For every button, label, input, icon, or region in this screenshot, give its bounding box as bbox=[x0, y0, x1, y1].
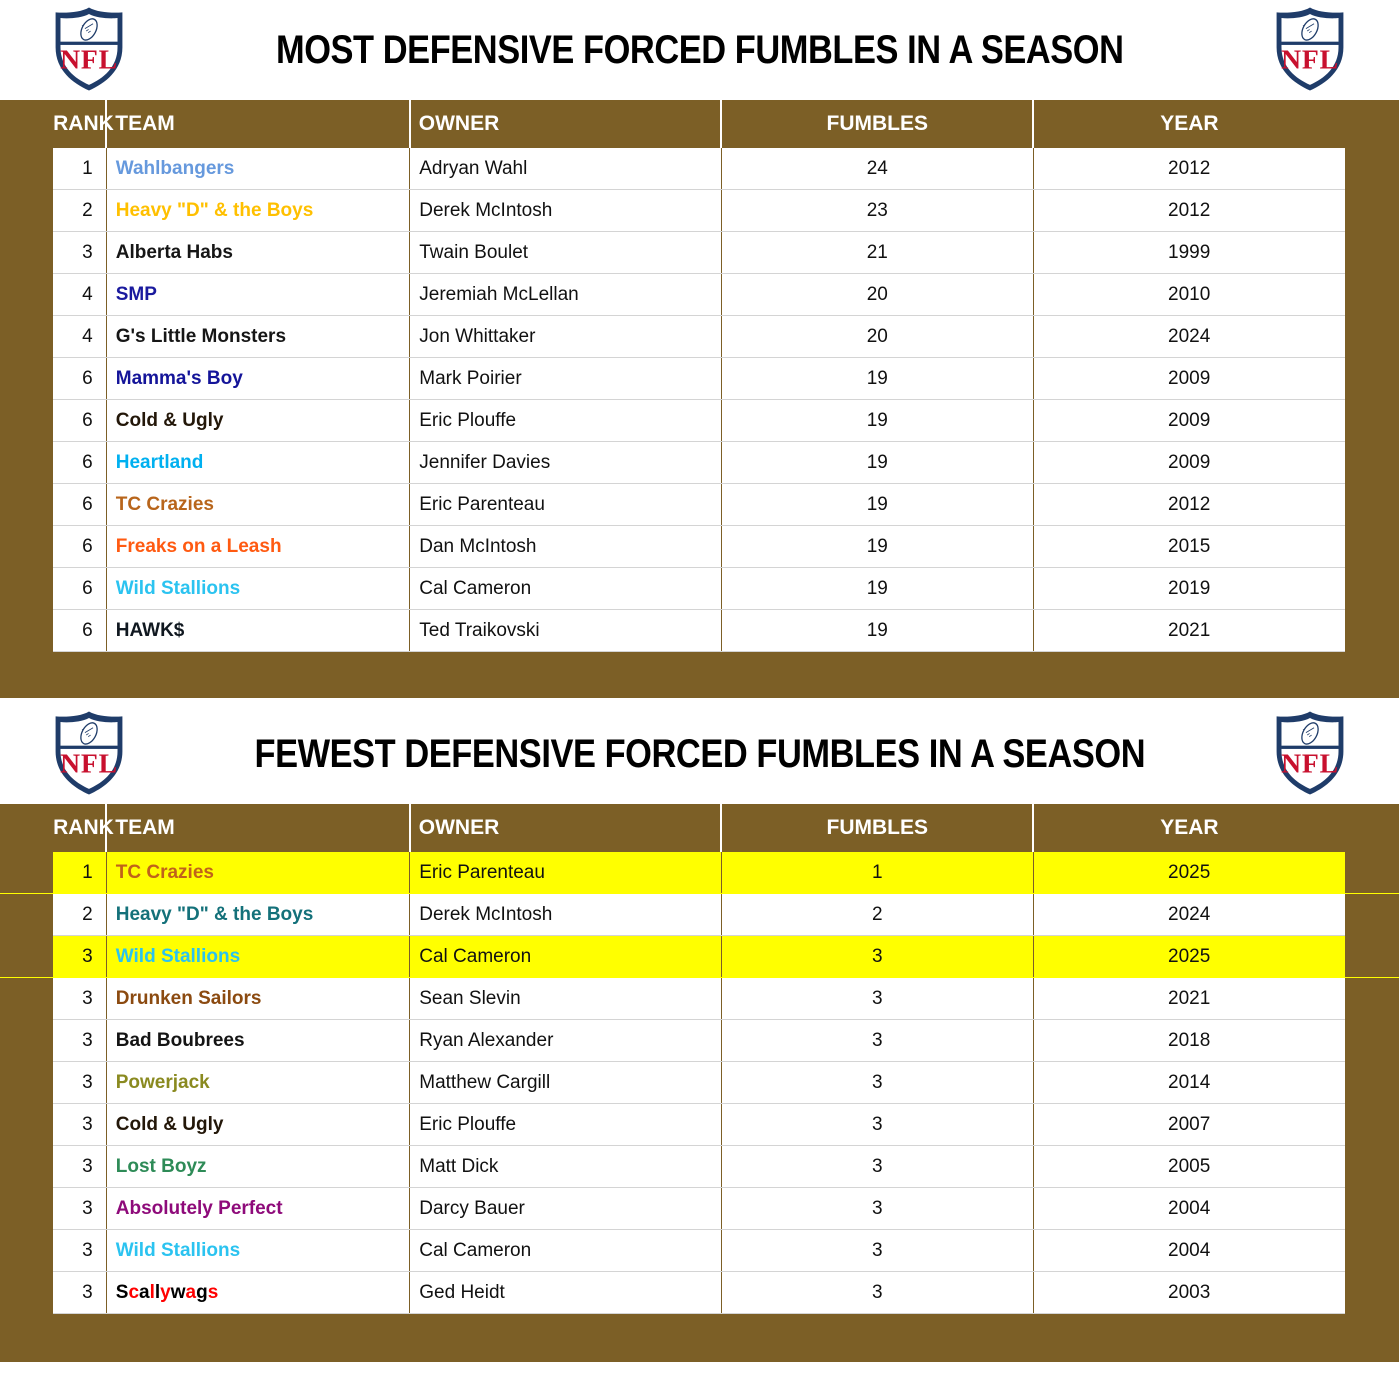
cell-owner: Eric Plouffe bbox=[410, 400, 722, 442]
row-left-spacer bbox=[0, 936, 53, 978]
table-row[interactable]: 3Cold & UglyEric Plouffe32007 bbox=[0, 1104, 1399, 1146]
team-letter: S bbox=[116, 1282, 129, 1303]
row-right-spacer bbox=[1345, 148, 1399, 190]
row-right-spacer bbox=[1345, 894, 1399, 936]
cell-team: Wild Stallions bbox=[106, 568, 410, 610]
cell-fumbles: 20 bbox=[721, 316, 1033, 358]
records-sheet: NFL MOST DEFENSIVE FORCED FUMBLES IN A S… bbox=[0, 0, 1399, 1385]
cell-year: 2012 bbox=[1033, 190, 1345, 232]
team-letter: a bbox=[139, 1282, 150, 1303]
cell-fumbles: 3 bbox=[721, 1188, 1033, 1230]
table-row[interactable]: 1WahlbangersAdryan Wahl242012 bbox=[0, 148, 1399, 190]
cell-year: 1999 bbox=[1033, 232, 1345, 274]
column-header-year[interactable]: YEAR bbox=[1033, 100, 1345, 148]
team-letter: a bbox=[186, 1282, 197, 1303]
row-left-spacer bbox=[0, 1062, 53, 1104]
cell-team: G's Little Monsters bbox=[106, 316, 410, 358]
nfl-logo-right: NFL bbox=[1269, 709, 1351, 797]
cell-year: 2012 bbox=[1033, 484, 1345, 526]
cell-fumbles: 24 bbox=[721, 148, 1033, 190]
cell-owner: Derek McIntosh bbox=[410, 190, 722, 232]
nfl-logo-left: NFL bbox=[48, 709, 130, 797]
cell-fumbles: 3 bbox=[721, 978, 1033, 1020]
cell-team: HAWK$ bbox=[106, 610, 410, 652]
row-right-spacer bbox=[1345, 1104, 1399, 1146]
cell-year: 2018 bbox=[1033, 1020, 1345, 1062]
cell-rank: 3 bbox=[53, 232, 106, 274]
nfl-shield-icon: NFL bbox=[48, 5, 130, 93]
table-row[interactable]: 3Absolutely PerfectDarcy Bauer32004 bbox=[0, 1188, 1399, 1230]
row-right-spacer bbox=[1345, 400, 1399, 442]
table-row[interactable]: 3Lost BoyzMatt Dick32005 bbox=[0, 1146, 1399, 1188]
row-left-spacer bbox=[0, 316, 53, 358]
table-row[interactable]: 3Alberta HabsTwain Boulet211999 bbox=[0, 232, 1399, 274]
cell-team: Bad Boubrees bbox=[106, 1020, 410, 1062]
cell-fumbles: 23 bbox=[721, 190, 1033, 232]
cell-rank: 6 bbox=[53, 358, 106, 400]
cell-year: 2025 bbox=[1033, 852, 1345, 894]
cell-year: 2003 bbox=[1033, 1272, 1345, 1314]
cell-team: TC Crazies bbox=[106, 484, 410, 526]
team-letter: c bbox=[128, 1282, 139, 1303]
cell-owner: Mark Poirier bbox=[410, 358, 722, 400]
cell-fumbles: 3 bbox=[721, 936, 1033, 978]
table-row[interactable]: 1TC CraziesEric Parenteau12025 bbox=[0, 852, 1399, 894]
cell-rank: 6 bbox=[53, 610, 106, 652]
cell-team: SMP bbox=[106, 274, 410, 316]
row-left-spacer bbox=[0, 852, 53, 894]
cell-year: 2021 bbox=[1033, 978, 1345, 1020]
svg-text:NFL: NFL bbox=[1281, 748, 1339, 779]
column-header-year[interactable]: YEAR bbox=[1033, 804, 1345, 852]
cell-rank: 3 bbox=[53, 1188, 106, 1230]
cell-team: Mamma's Boy bbox=[106, 358, 410, 400]
row-left-spacer bbox=[0, 1188, 53, 1230]
cell-rank: 2 bbox=[53, 190, 106, 232]
cell-team: Wild Stallions bbox=[106, 936, 410, 978]
cell-rank: 3 bbox=[53, 978, 106, 1020]
cell-team: Lost Boyz bbox=[106, 1146, 410, 1188]
cell-fumbles: 3 bbox=[721, 1062, 1033, 1104]
cell-owner: Ged Heidt bbox=[410, 1272, 722, 1314]
cell-fumbles: 19 bbox=[721, 526, 1033, 568]
cell-owner: Eric Parenteau bbox=[410, 484, 722, 526]
cell-owner: Dan McIntosh bbox=[410, 526, 722, 568]
cell-fumbles: 19 bbox=[721, 610, 1033, 652]
cell-year: 2019 bbox=[1033, 568, 1345, 610]
row-right-spacer bbox=[1345, 1188, 1399, 1230]
row-left-spacer bbox=[0, 1020, 53, 1062]
cell-year: 2021 bbox=[1033, 610, 1345, 652]
section-most: NFL MOST DEFENSIVE FORCED FUMBLES IN A S… bbox=[0, 0, 1399, 704]
cell-fumbles: 3 bbox=[721, 1272, 1033, 1314]
cell-fumbles: 19 bbox=[721, 484, 1033, 526]
table-row[interactable]: 2Heavy "D" & the BoysDerek McIntosh23201… bbox=[0, 190, 1399, 232]
row-right-spacer bbox=[1345, 978, 1399, 1020]
cell-team: Powerjack bbox=[106, 1062, 410, 1104]
cell-year: 2004 bbox=[1033, 1230, 1345, 1272]
row-right-spacer bbox=[1345, 1146, 1399, 1188]
row-right-spacer bbox=[1345, 484, 1399, 526]
cell-owner: Cal Cameron bbox=[410, 936, 722, 978]
nfl-logo-left: NFL bbox=[48, 5, 130, 93]
cell-rank: 3 bbox=[53, 936, 106, 978]
table-row[interactable]: 6Wild StallionsCal Cameron192019 bbox=[0, 568, 1399, 610]
row-left-spacer bbox=[0, 442, 53, 484]
cell-rank: 3 bbox=[53, 1230, 106, 1272]
row-left-spacer bbox=[0, 894, 53, 936]
team-letter: g bbox=[196, 1282, 208, 1303]
cell-fumbles: 21 bbox=[721, 232, 1033, 274]
table-row[interactable]: 3Bad BoubreesRyan Alexander32018 bbox=[0, 1020, 1399, 1062]
cell-owner: Jennifer Davies bbox=[410, 442, 722, 484]
page-title-fewest: FEWEST DEFENSIVE FORCED FUMBLES IN A SEA… bbox=[254, 732, 1145, 777]
cell-owner: Jon Whittaker bbox=[410, 316, 722, 358]
table-row[interactable]: 4SMPJeremiah McLellan202010 bbox=[0, 274, 1399, 316]
table-row[interactable]: 4G's Little MonstersJon Whittaker202024 bbox=[0, 316, 1399, 358]
row-left-spacer bbox=[0, 610, 53, 652]
cell-fumbles: 19 bbox=[721, 358, 1033, 400]
row-right-spacer bbox=[1345, 1230, 1399, 1272]
cell-rank: 6 bbox=[53, 526, 106, 568]
cell-rank: 2 bbox=[53, 894, 106, 936]
table-row[interactable]: 6TC CraziesEric Parenteau192012 bbox=[0, 484, 1399, 526]
cell-year: 2025 bbox=[1033, 936, 1345, 978]
row-left-spacer bbox=[0, 1272, 53, 1314]
cell-owner: Cal Cameron bbox=[410, 1230, 722, 1272]
header-right-spacer bbox=[1345, 804, 1399, 852]
cell-year: 2015 bbox=[1033, 526, 1345, 568]
cell-fumbles: 2 bbox=[721, 894, 1033, 936]
row-right-spacer bbox=[1345, 936, 1399, 978]
row-left-spacer bbox=[0, 148, 53, 190]
table-wrap-fewest: RANKTEAMOWNERFUMBLESYEAR1TC CraziesEric … bbox=[0, 804, 1399, 1362]
row-left-spacer bbox=[0, 400, 53, 442]
cell-owner: Ted Traikovski bbox=[410, 610, 722, 652]
team-letter: w bbox=[171, 1282, 186, 1303]
row-right-spacer bbox=[1345, 526, 1399, 568]
cell-team: TC Crazies bbox=[106, 852, 410, 894]
cell-owner: Darcy Bauer bbox=[410, 1188, 722, 1230]
cell-rank: 3 bbox=[53, 1062, 106, 1104]
cell-rank: 4 bbox=[53, 274, 106, 316]
nfl-shield-icon: NFL bbox=[1269, 5, 1351, 93]
row-left-spacer bbox=[0, 484, 53, 526]
row-left-spacer bbox=[0, 274, 53, 316]
cell-team: Cold & Ugly bbox=[106, 1104, 410, 1146]
row-left-spacer bbox=[0, 1104, 53, 1146]
table-footer-band bbox=[0, 652, 1399, 698]
cell-owner: Matthew Cargill bbox=[410, 1062, 722, 1104]
column-header-fumbles[interactable]: FUMBLES bbox=[721, 100, 1033, 148]
table-row[interactable]: 6HAWK$Ted Traikovski192021 bbox=[0, 610, 1399, 652]
cell-team: Heavy "D" & the Boys bbox=[106, 190, 410, 232]
cell-team: Drunken Sailors bbox=[106, 978, 410, 1020]
cell-rank: 3 bbox=[53, 1146, 106, 1188]
table-row[interactable]: 6HeartlandJennifer Davies192009 bbox=[0, 442, 1399, 484]
row-left-spacer bbox=[0, 1146, 53, 1188]
cell-year: 2009 bbox=[1033, 400, 1345, 442]
cell-year: 2024 bbox=[1033, 316, 1345, 358]
cell-rank: 6 bbox=[53, 568, 106, 610]
cell-team: Heavy "D" & the Boys bbox=[106, 894, 410, 936]
cell-fumbles: 3 bbox=[721, 1146, 1033, 1188]
row-right-spacer bbox=[1345, 274, 1399, 316]
cell-team: Wahlbangers bbox=[106, 148, 410, 190]
row-left-spacer bbox=[0, 526, 53, 568]
cell-fumbles: 20 bbox=[721, 274, 1033, 316]
column-header-rank[interactable]: RANK bbox=[53, 804, 106, 852]
row-right-spacer bbox=[1345, 1272, 1399, 1314]
table-row[interactable]: 3Wild StallionsCal Cameron32025 bbox=[0, 936, 1399, 978]
cell-year: 2024 bbox=[1033, 894, 1345, 936]
row-left-spacer bbox=[0, 232, 53, 274]
cell-year: 2010 bbox=[1033, 274, 1345, 316]
cell-team: Freaks on a Leash bbox=[106, 526, 410, 568]
sections-root: NFL MOST DEFENSIVE FORCED FUMBLES IN A S… bbox=[0, 0, 1399, 1362]
cell-rank: 6 bbox=[53, 400, 106, 442]
header-left-spacer bbox=[0, 100, 53, 148]
cell-owner: Eric Parenteau bbox=[410, 852, 722, 894]
cell-team: Heartland bbox=[106, 442, 410, 484]
table-row[interactable]: 6Mamma's BoyMark Poirier192009 bbox=[0, 358, 1399, 400]
row-right-spacer bbox=[1345, 568, 1399, 610]
row-left-spacer bbox=[0, 978, 53, 1020]
column-header-owner[interactable]: OWNER bbox=[410, 804, 722, 852]
team-letter: s bbox=[208, 1282, 219, 1303]
cell-rank: 3 bbox=[53, 1272, 106, 1314]
cell-year: 2004 bbox=[1033, 1188, 1345, 1230]
cell-year: 2009 bbox=[1033, 358, 1345, 400]
cell-owner: Cal Cameron bbox=[410, 568, 722, 610]
cell-year: 2012 bbox=[1033, 148, 1345, 190]
table-row[interactable]: 6Freaks on a LeashDan McIntosh192015 bbox=[0, 526, 1399, 568]
cell-owner: Eric Plouffe bbox=[410, 1104, 722, 1146]
row-right-spacer bbox=[1345, 232, 1399, 274]
cell-fumbles: 3 bbox=[721, 1020, 1033, 1062]
row-right-spacer bbox=[1345, 1020, 1399, 1062]
title-band-fewest: NFL FEWEST DEFENSIVE FORCED FUMBLES IN A… bbox=[0, 704, 1399, 804]
cell-owner: Sean Slevin bbox=[410, 978, 722, 1020]
cell-year: 2014 bbox=[1033, 1062, 1345, 1104]
cell-rank: 3 bbox=[53, 1020, 106, 1062]
cell-rank: 3 bbox=[53, 1104, 106, 1146]
title-band-most: NFL MOST DEFENSIVE FORCED FUMBLES IN A S… bbox=[0, 0, 1399, 100]
row-left-spacer bbox=[0, 568, 53, 610]
cell-owner: Adryan Wahl bbox=[410, 148, 722, 190]
table-header-row: RANKTEAMOWNERFUMBLESYEAR bbox=[0, 804, 1399, 852]
svg-text:NFL: NFL bbox=[60, 44, 118, 75]
section-fewest: NFL FEWEST DEFENSIVE FORCED FUMBLES IN A… bbox=[0, 704, 1399, 1362]
cell-fumbles: 19 bbox=[721, 568, 1033, 610]
table-wrap-most: RANKTEAMOWNERFUMBLESYEAR1WahlbangersAdry… bbox=[0, 100, 1399, 698]
row-right-spacer bbox=[1345, 316, 1399, 358]
cell-team: Cold & Ugly bbox=[106, 400, 410, 442]
cell-team: Alberta Habs bbox=[106, 232, 410, 274]
table-row[interactable]: 3ScallywagsGed Heidt32003 bbox=[0, 1272, 1399, 1314]
cell-owner: Twain Boulet bbox=[410, 232, 722, 274]
cell-year: 2007 bbox=[1033, 1104, 1345, 1146]
team-letter: y bbox=[160, 1282, 171, 1303]
row-left-spacer bbox=[0, 1230, 53, 1272]
cell-owner: Matt Dick bbox=[410, 1146, 722, 1188]
table-row[interactable]: 2Heavy "D" & the BoysDerek McIntosh22024 bbox=[0, 894, 1399, 936]
table-row[interactable]: 3Drunken SailorsSean Slevin32021 bbox=[0, 978, 1399, 1020]
cell-year: 2009 bbox=[1033, 442, 1345, 484]
cell-fumbles: 19 bbox=[721, 400, 1033, 442]
page-title-most: MOST DEFENSIVE FORCED FUMBLES IN A SEASO… bbox=[276, 28, 1124, 73]
row-right-spacer bbox=[1345, 358, 1399, 400]
table-row[interactable]: 3PowerjackMatthew Cargill32014 bbox=[0, 1062, 1399, 1104]
column-header-team[interactable]: TEAM bbox=[106, 100, 410, 148]
row-left-spacer bbox=[0, 190, 53, 232]
cell-owner: Jeremiah McLellan bbox=[410, 274, 722, 316]
records-table-most: RANKTEAMOWNERFUMBLESYEAR1WahlbangersAdry… bbox=[0, 100, 1399, 652]
cell-team: Scallywags bbox=[106, 1272, 410, 1314]
cell-owner: Derek McIntosh bbox=[410, 894, 722, 936]
column-header-fumbles[interactable]: FUMBLES bbox=[721, 804, 1033, 852]
nfl-shield-icon: NFL bbox=[1269, 709, 1351, 797]
row-right-spacer bbox=[1345, 442, 1399, 484]
cell-rank: 6 bbox=[53, 484, 106, 526]
cell-rank: 6 bbox=[53, 442, 106, 484]
records-table-fewest: RANKTEAMOWNERFUMBLESYEAR1TC CraziesEric … bbox=[0, 804, 1399, 1314]
cell-year: 2005 bbox=[1033, 1146, 1345, 1188]
cell-rank: 1 bbox=[53, 852, 106, 894]
row-right-spacer bbox=[1345, 190, 1399, 232]
row-left-spacer bbox=[0, 358, 53, 400]
svg-text:NFL: NFL bbox=[60, 748, 118, 779]
column-header-team[interactable]: TEAM bbox=[106, 804, 410, 852]
nfl-logo-right: NFL bbox=[1269, 5, 1351, 93]
svg-text:NFL: NFL bbox=[1281, 44, 1339, 75]
header-left-spacer bbox=[0, 804, 53, 852]
cell-owner: Ryan Alexander bbox=[410, 1020, 722, 1062]
row-right-spacer bbox=[1345, 852, 1399, 894]
table-header-row: RANKTEAMOWNERFUMBLESYEAR bbox=[0, 100, 1399, 148]
cell-fumbles: 3 bbox=[721, 1230, 1033, 1272]
column-header-rank[interactable]: RANK bbox=[53, 100, 106, 148]
cell-rank: 1 bbox=[53, 148, 106, 190]
nfl-shield-icon: NFL bbox=[48, 709, 130, 797]
column-header-owner[interactable]: OWNER bbox=[410, 100, 722, 148]
table-row[interactable]: 3Wild StallionsCal Cameron32004 bbox=[0, 1230, 1399, 1272]
row-right-spacer bbox=[1345, 610, 1399, 652]
cell-team: Absolutely Perfect bbox=[106, 1188, 410, 1230]
table-footer-band bbox=[0, 1314, 1399, 1362]
row-right-spacer bbox=[1345, 1062, 1399, 1104]
cell-fumbles: 1 bbox=[721, 852, 1033, 894]
cell-fumbles: 3 bbox=[721, 1104, 1033, 1146]
cell-rank: 4 bbox=[53, 316, 106, 358]
cell-fumbles: 19 bbox=[721, 442, 1033, 484]
table-row[interactable]: 6Cold & UglyEric Plouffe192009 bbox=[0, 400, 1399, 442]
header-right-spacer bbox=[1345, 100, 1399, 148]
cell-team: Wild Stallions bbox=[106, 1230, 410, 1272]
